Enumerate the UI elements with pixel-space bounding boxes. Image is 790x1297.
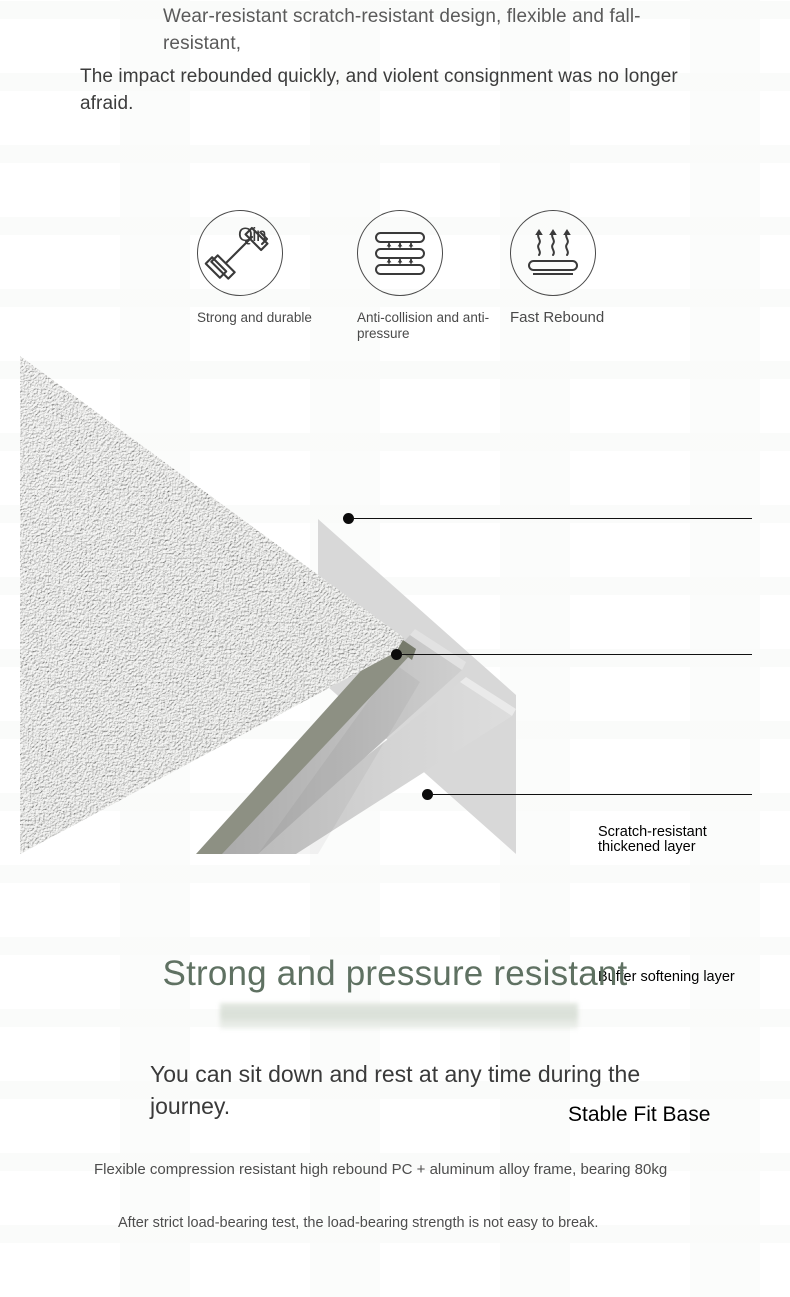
heading-underline-bar (220, 1003, 578, 1029)
feature-anti-collision: Anti-collision and anti-pressure (357, 210, 527, 342)
layered-shell-diagram: Scratch-resistant thickened layer Buffer… (0, 352, 790, 854)
feature-label-strong-durable: Strong and durable (197, 310, 347, 326)
stacked-layers-icon (358, 211, 442, 295)
feature-fast-rebound: Fast Rebound (510, 210, 680, 326)
intro-headline-primary: Wear-resistant scratch-resistant design,… (163, 3, 683, 57)
callout-line-stable-fit-base (431, 794, 752, 795)
dumbbell-icon-overlay-text: Qin (238, 225, 266, 247)
feature-label-anti-collision: Anti-collision and anti-pressure (357, 310, 507, 342)
rebound-arrows-icon (511, 211, 595, 295)
callout-line-scratch-resistant (352, 518, 752, 519)
feature-strong-durable: Qin Strong and durable (197, 210, 367, 326)
feature-circle-3 (510, 210, 596, 296)
strength-section-subheading: You can sit down and rest at any time du… (150, 1058, 710, 1122)
layered-shell-illustration (0, 352, 790, 854)
intro-headline-secondary: The impact rebounded quickly, and violen… (80, 63, 720, 117)
product-detail-page: Wear-resistant scratch-resistant design,… (0, 0, 790, 1297)
strength-section-heading: Strong and pressure resistant (0, 952, 790, 996)
callout-label-scratch-resistant: Scratch-resistant thickened layer (598, 825, 707, 854)
strength-section-body-primary: Flexible compression resistant high rebo… (94, 1159, 714, 1180)
feature-circle-1: Qin (197, 210, 283, 296)
feature-circle-2 (357, 210, 443, 296)
dumbbell-icon (198, 211, 282, 295)
feature-icon-row: Qin Strong and durable (0, 210, 790, 350)
callout-line-buffer-softening (400, 654, 752, 655)
strength-section-body-secondary: After strict load-bearing test, the load… (118, 1213, 758, 1233)
feature-label-fast-rebound: Fast Rebound (510, 310, 660, 326)
